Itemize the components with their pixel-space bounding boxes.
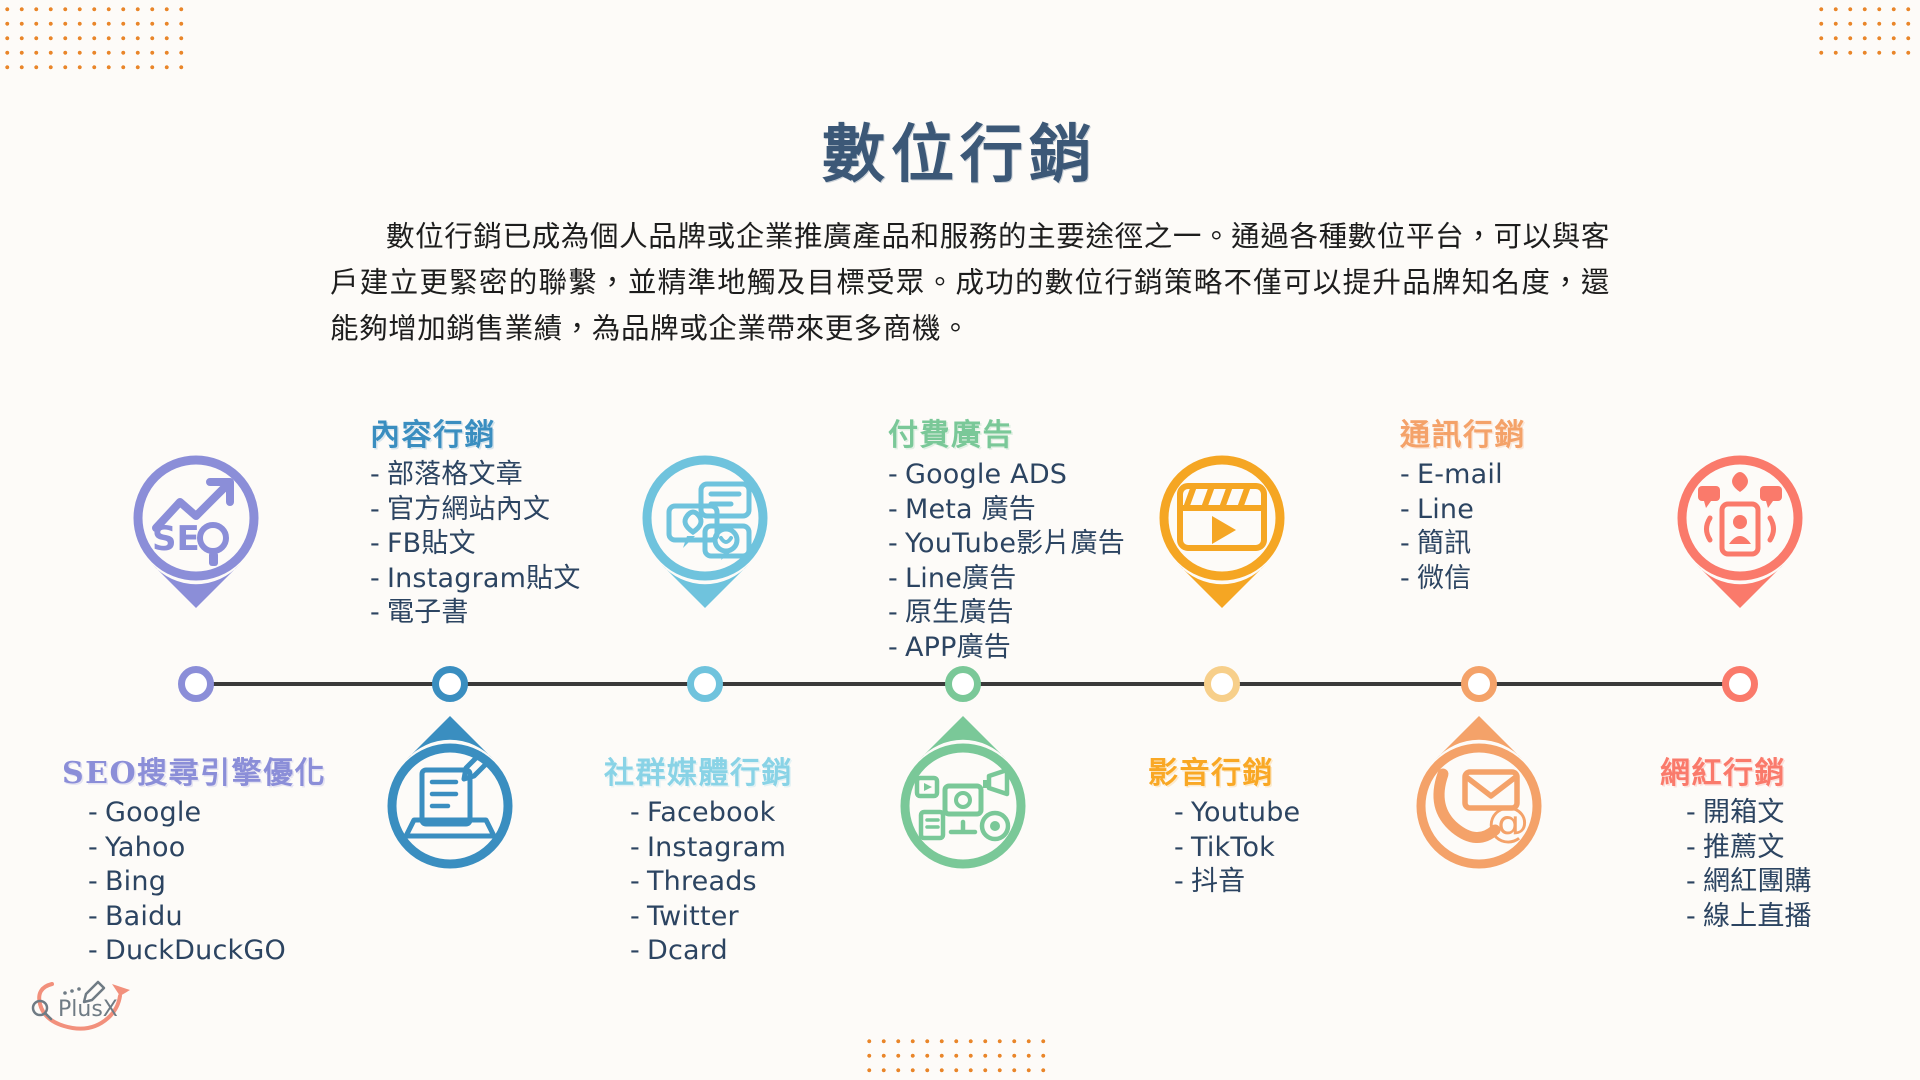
section-seo: SEO搜尋引擎優化 -Google -Yahoo -Bing -Baidu -D… (62, 748, 326, 969)
pin-video[interactable] (1142, 712, 1302, 872)
timeline-node-video[interactable] (1204, 666, 1240, 702)
timeline-node-messaging[interactable] (1461, 666, 1497, 702)
pin-social[interactable] (883, 712, 1043, 872)
plusx-logo-icon: PlusX (18, 964, 158, 1042)
list-item: -網紅團購 (1686, 865, 1812, 900)
svg-text:PlusX: PlusX (58, 997, 118, 1022)
svg-text:@: @ (1487, 797, 1529, 846)
section-title-social: 社群媒體行銷 (604, 748, 793, 792)
timeline-node-social[interactable] (687, 666, 723, 702)
timeline-node-content[interactable] (432, 666, 468, 702)
pin-content[interactable] (625, 452, 785, 612)
section-paid-ads: 付費廣告 -Google ADS -Meta 廣告 -YouTube影片廣告 -… (888, 410, 1125, 665)
influencer-phone-icon (1660, 452, 1820, 612)
section-list-messaging: -E-mail -Line -簡訊 -微信 (1400, 458, 1526, 596)
section-list-influencer: -開箱文 -推薦文 -網紅團購 -線上直播 (1660, 796, 1812, 934)
list-item: -Instagram貼文 (370, 562, 581, 597)
list-item: -FB貼文 (370, 527, 581, 562)
list-item: -Dcard (630, 934, 793, 969)
dot-pattern-top-left (0, 2, 186, 74)
list-item: -Instagram (630, 831, 793, 866)
plusx-logo[interactable]: PlusX (18, 964, 158, 1042)
pin-paid-ads[interactable] (1142, 452, 1302, 612)
section-title-seo: SEO搜尋引擎優化 (62, 748, 326, 792)
timeline-node-seo[interactable] (178, 666, 214, 702)
list-item: -官方網站內文 (370, 493, 581, 528)
section-list-social: -Facebook -Instagram -Threads -Twitter -… (604, 796, 793, 969)
list-item: -Baidu (88, 900, 326, 935)
pin-content-icon[interactable] (370, 712, 530, 872)
video-play-icon (1142, 452, 1302, 612)
seo-growth-icon: SE (116, 452, 276, 612)
list-item: -Facebook (630, 796, 793, 831)
list-item: -線上直播 (1686, 900, 1812, 935)
list-item: -E-mail (1400, 458, 1526, 493)
section-list-content: -部落格文章 -官方網站內文 -FB貼文 -Instagram貼文 -電子書 (370, 458, 581, 631)
section-social: 社群媒體行銷 -Facebook -Instagram -Threads -Tw… (604, 748, 793, 969)
list-item: -推薦文 (1686, 831, 1812, 866)
list-item: -部落格文章 (370, 458, 581, 493)
list-item: -微信 (1400, 562, 1526, 597)
section-list-seo: -Google -Yahoo -Bing -Baidu -DuckDuckGO (62, 796, 326, 969)
chat-bubbles-icon (625, 452, 785, 612)
pin-seo[interactable]: SE (116, 452, 276, 612)
intro-paragraph: 數位行銷已成為個人品牌或企業推廣產品和服務的主要途徑之一。通過各種數位平台，可以… (330, 214, 1610, 352)
timeline-node-influencer[interactable] (1722, 666, 1758, 702)
list-item: -Twitter (630, 900, 793, 935)
dot-pattern-top-right (1814, 2, 1920, 64)
page-title: 數位行銷 (0, 104, 1920, 195)
list-item: -APP廣告 (888, 631, 1125, 666)
timeline-node-paid-ads[interactable] (945, 666, 981, 702)
list-item: -Yahoo (88, 831, 326, 866)
svg-text:SE: SE (152, 519, 200, 559)
list-item: -開箱文 (1686, 796, 1812, 831)
section-messaging: 通訊行銷 -E-mail -Line -簡訊 -微信 (1400, 410, 1526, 596)
laptop-writing-icon (370, 712, 530, 872)
section-title-messaging: 通訊行銷 (1400, 410, 1526, 454)
list-item: -Threads (630, 865, 793, 900)
section-list-paid-ads: -Google ADS -Meta 廣告 -YouTube影片廣告 -Line廣… (888, 458, 1125, 665)
section-influencer: 網紅行銷 -開箱文 -推薦文 -網紅團購 -線上直播 (1660, 748, 1812, 934)
section-content: 內容行銷 -部落格文章 -官方網站內文 -FB貼文 -Instagram貼文 -… (370, 410, 581, 631)
section-title-paid-ads: 付費廣告 (888, 410, 1125, 454)
list-item: -Bing (88, 865, 326, 900)
list-item: -YouTube影片廣告 (888, 527, 1125, 562)
list-item: -Line (1400, 493, 1526, 528)
pin-messaging[interactable]: @ (1399, 712, 1559, 872)
list-item: -Google ADS (888, 458, 1125, 493)
section-title-influencer: 網紅行銷 (1660, 748, 1812, 792)
pin-influencer[interactable] (1660, 452, 1820, 612)
dot-pattern-bottom (862, 1034, 1052, 1078)
ads-network-icon (883, 712, 1043, 872)
list-item: -簡訊 (1400, 527, 1526, 562)
section-title-content: 內容行銷 (370, 410, 581, 454)
list-item: -Line廣告 (888, 562, 1125, 597)
list-item: -Meta 廣告 (888, 493, 1125, 528)
phone-email-icon: @ (1399, 712, 1559, 872)
list-item: -電子書 (370, 596, 581, 631)
list-item: -Google (88, 796, 326, 831)
list-item: -原生廣告 (888, 596, 1125, 631)
